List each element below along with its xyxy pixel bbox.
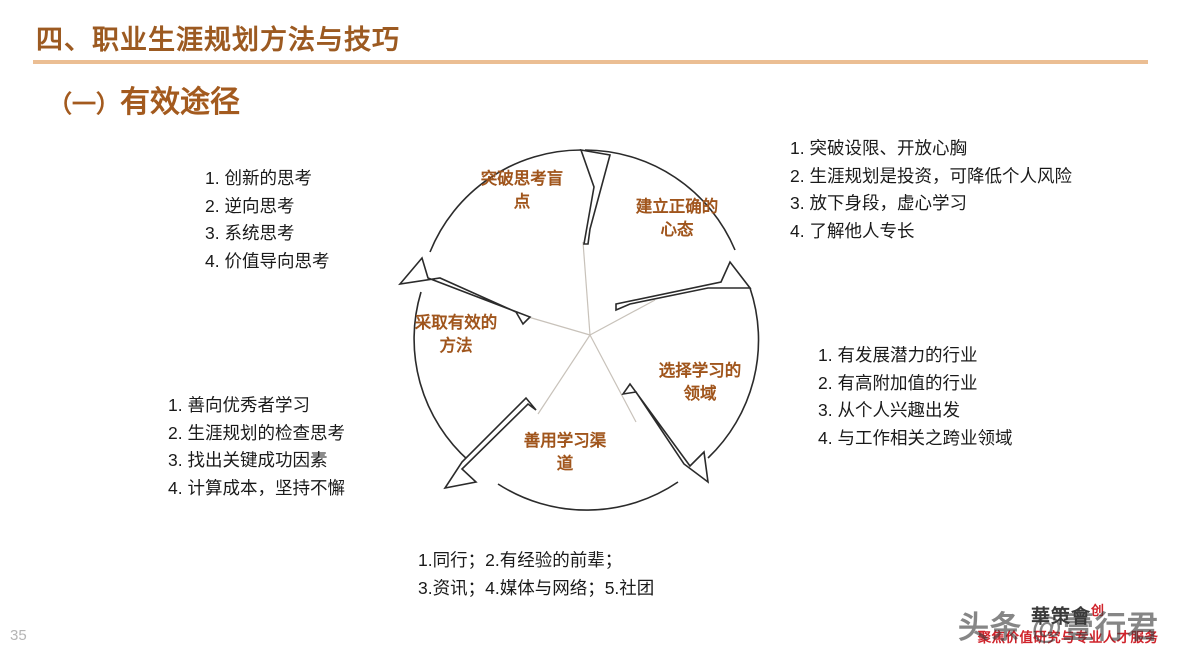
page-title: 四、职业生涯规划方法与技巧 — [36, 18, 400, 57]
segment-label-effective-methods: 采取有效的 方法 — [395, 312, 517, 359]
spoke-lower-right — [590, 335, 636, 422]
spoke-top — [583, 242, 590, 335]
segment-label-use-learning-channels: 善用学习渠 道 — [510, 430, 620, 477]
section-subtitle: （一）有效途径 — [48, 77, 240, 121]
brand-tagline: 聚焦价值研究与专业人才服务 — [968, 626, 1168, 646]
brand-name-text: 華策會 — [1031, 606, 1091, 627]
segment-label-breakthrough-thinking: 突破思考盲 点 — [460, 168, 584, 215]
subtitle-index: （一） — [48, 91, 120, 118]
note-top-right: 1. 突破设限、开放心胸 2. 生涯规划是投资，可降低个人风险 3. 放下身段，… — [790, 135, 1072, 246]
brand-mark: 创 — [1091, 603, 1105, 618]
note-bottom-right: 1. 有发展潜力的行业 2. 有高附加值的行业 3. 从个人兴趣出发 4. 与工… — [818, 342, 1012, 453]
page-number: 35 — [10, 627, 27, 644]
note-bottom-center: 1.同行；2.有经验的前辈； 3.资讯；4.媒体与网络；5.社团 — [418, 547, 654, 602]
spoke-bottom — [538, 335, 590, 414]
slide-canvas: 四、职业生涯规划方法与技巧 （一）有效途径 — [0, 0, 1185, 659]
subtitle-label: 有效途径 — [120, 86, 240, 119]
note-bottom-left: 1. 善向优秀者学习 2. 生涯规划的检查思考 3. 找出关键成功因素 4. 计… — [168, 392, 345, 503]
arrow-upper-right — [616, 262, 750, 310]
title-divider — [33, 60, 1148, 64]
segment-label-choose-learning-field: 选择学习的 领域 — [645, 360, 755, 407]
arrow-top — [581, 150, 610, 244]
platform-watermark: 头条 @壹行君 — [958, 602, 1180, 648]
arc-bottom — [498, 482, 678, 510]
segment-label-correct-mindset: 建立正确的 心态 — [622, 196, 732, 243]
hub-spokes — [518, 242, 655, 422]
note-top-left: 1. 创新的思考 2. 逆向思考 3. 系统思考 4. 价值导向思考 — [205, 165, 329, 276]
brand-name: 華策會创 — [968, 600, 1168, 628]
brand-watermark: 華策會创 聚焦价值研究与专业人才服务 — [968, 600, 1168, 652]
